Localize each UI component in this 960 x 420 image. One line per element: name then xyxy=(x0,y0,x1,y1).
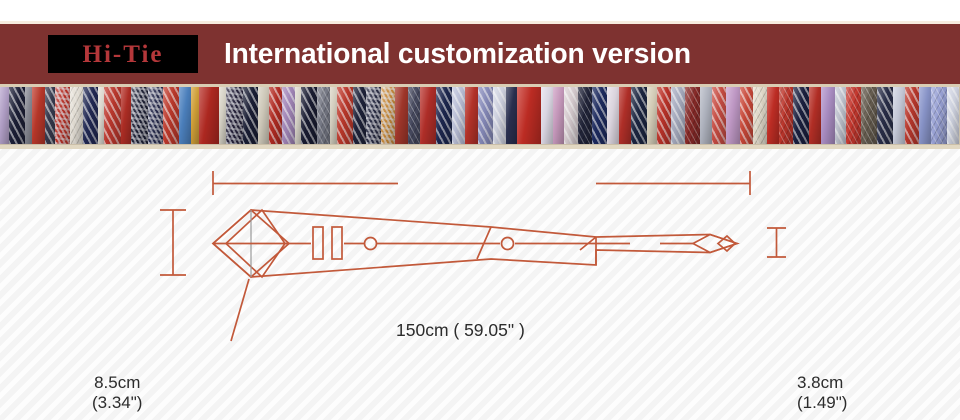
necktie-swatch xyxy=(301,86,317,144)
top-margin xyxy=(0,0,960,21)
necktie-swatch xyxy=(330,86,338,144)
necktie-swatch xyxy=(753,86,767,144)
swatch-shading xyxy=(671,86,685,144)
swatch-shading xyxy=(861,86,877,144)
swatch-shading xyxy=(793,86,808,144)
swatch-shading xyxy=(553,86,564,144)
necktie-swatch xyxy=(163,86,179,144)
swatch-shading xyxy=(436,86,452,144)
necktie-swatch xyxy=(219,86,226,144)
swatch-shading xyxy=(947,86,960,144)
swatch-shading xyxy=(578,86,592,144)
necktie-swatch xyxy=(685,86,700,144)
necktie-swatch xyxy=(408,86,421,144)
necktie-swatch xyxy=(493,86,507,144)
necktie-swatch xyxy=(104,86,121,144)
photo-strip-top-edge xyxy=(0,84,960,87)
necktie-collection-photo xyxy=(0,84,960,148)
necktie-swatch xyxy=(83,86,98,144)
necktie-swatch xyxy=(905,86,919,144)
swatch-shading xyxy=(619,86,632,144)
necktie-swatch xyxy=(381,86,395,144)
swatch-shading xyxy=(70,86,83,144)
necktie-swatch xyxy=(657,86,671,144)
swatch-shading xyxy=(243,86,258,144)
tie-specification-diagram: 150cm ( 59.05" ) 8.5cm (3.34") 3.8cm (1.… xyxy=(0,149,960,420)
narrow-end-label: 3.8cm (1.49") xyxy=(797,373,847,413)
swatch-shading xyxy=(564,86,578,144)
swatch-shading xyxy=(337,86,352,144)
swatch-shading xyxy=(753,86,767,144)
necktie-swatch xyxy=(877,86,892,144)
necktie-swatch xyxy=(45,86,55,144)
swatch-shading xyxy=(465,86,479,144)
necktie-swatch xyxy=(121,86,131,144)
swatch-shading xyxy=(179,86,191,144)
necktie-swatch xyxy=(740,86,753,144)
necktie-swatch xyxy=(179,86,191,144)
swatch-shading xyxy=(657,86,671,144)
swatch-shading xyxy=(420,86,435,144)
brand-logo-text: Hi-Tie xyxy=(83,42,164,67)
swatch-shading xyxy=(821,86,835,144)
swatch-shading xyxy=(931,86,946,144)
swatch-shading xyxy=(381,86,395,144)
swatch-shading xyxy=(163,86,179,144)
swatch-shading xyxy=(877,86,892,144)
swatch-shading xyxy=(452,86,465,144)
swatch-shading xyxy=(592,86,607,144)
swatch-shading xyxy=(740,86,753,144)
swatch-shading xyxy=(330,86,338,144)
swatch-shading xyxy=(631,86,646,144)
swatch-shading xyxy=(199,86,219,144)
swatch-shading xyxy=(685,86,700,144)
brand-logo-box: Hi-Tie xyxy=(48,35,198,73)
narrow-end-dimension-line xyxy=(767,228,786,257)
necktie-swatch xyxy=(199,86,219,144)
swatch-shading xyxy=(219,86,226,144)
necktie-swatch xyxy=(631,86,646,144)
swatch-shading xyxy=(541,86,554,144)
swatch-shading xyxy=(493,86,507,144)
swatch-shading xyxy=(607,86,619,144)
necktie-swatch xyxy=(931,86,946,144)
necktie-swatch xyxy=(9,86,25,144)
swatch-shading xyxy=(478,86,492,144)
necktie-swatch xyxy=(793,86,808,144)
necktie-swatch xyxy=(25,86,32,144)
swatch-shading xyxy=(647,86,657,144)
necktie-swatch xyxy=(420,86,435,144)
necktie-swatch-row xyxy=(0,86,960,144)
swatch-shading xyxy=(779,86,793,144)
necktie-swatch xyxy=(0,86,9,144)
necktie-swatch xyxy=(226,86,243,144)
swatch-shading xyxy=(893,86,906,144)
necktie-swatch xyxy=(647,86,657,144)
necktie-swatch xyxy=(337,86,352,144)
necktie-swatch xyxy=(353,86,367,144)
banner-title: International customization version xyxy=(224,38,691,71)
swatch-shading xyxy=(767,86,779,144)
swatch-shading xyxy=(148,86,163,144)
necktie-swatch xyxy=(861,86,877,144)
swatch-shading xyxy=(104,86,121,144)
necktie-swatch xyxy=(607,86,619,144)
length-dimension-line xyxy=(213,171,750,195)
swatch-shading xyxy=(55,86,70,144)
necktie-swatch xyxy=(846,86,860,144)
swatch-shading xyxy=(258,86,269,144)
necktie-swatch xyxy=(592,86,607,144)
necktie-swatch xyxy=(671,86,685,144)
necktie-swatch xyxy=(269,86,283,144)
swatch-shading xyxy=(191,86,199,144)
wide-end-label-inch: (3.34") xyxy=(92,393,142,413)
swatch-shading xyxy=(835,86,847,144)
wide-end-label: 8.5cm (3.34") xyxy=(92,373,142,413)
necktie-swatch xyxy=(564,86,578,144)
swatch-shading xyxy=(726,86,740,144)
length-label: 150cm ( 59.05" ) xyxy=(396,320,525,341)
necktie-swatch xyxy=(243,86,258,144)
necktie-swatch xyxy=(726,86,740,144)
necktie-swatch xyxy=(541,86,554,144)
necktie-swatch xyxy=(919,86,932,144)
necktie-swatch xyxy=(712,86,726,144)
swatch-shading xyxy=(121,86,131,144)
swatch-shading xyxy=(395,86,408,144)
necktie-swatch xyxy=(55,86,70,144)
header-banner: Hi-Tie International customization versi… xyxy=(0,24,960,84)
swatch-shading xyxy=(846,86,860,144)
necktie-swatch xyxy=(282,86,295,144)
swatch-shading xyxy=(269,86,283,144)
necktie-swatch xyxy=(619,86,632,144)
narrow-end-label-cm: 3.8cm xyxy=(797,373,847,393)
swatch-shading xyxy=(9,86,25,144)
swatch-shading xyxy=(408,86,421,144)
swatch-shading xyxy=(809,86,822,144)
necktie-swatch xyxy=(258,86,269,144)
swatch-shading xyxy=(517,86,541,144)
swatch-shading xyxy=(32,86,46,144)
swatch-shading xyxy=(282,86,295,144)
necktie-swatch xyxy=(700,86,713,144)
swatch-shading xyxy=(0,86,9,144)
necktie-swatch xyxy=(478,86,492,144)
necktie-swatch xyxy=(452,86,465,144)
swatch-shading xyxy=(366,86,380,144)
swatch-shading xyxy=(226,86,243,144)
necktie-swatch xyxy=(893,86,906,144)
swatch-shading xyxy=(301,86,317,144)
necktie-swatch xyxy=(821,86,835,144)
necktie-swatch xyxy=(553,86,564,144)
necktie-swatch xyxy=(148,86,163,144)
swatch-shading xyxy=(45,86,55,144)
swatch-shading xyxy=(700,86,713,144)
swatch-shading xyxy=(506,86,517,144)
wide-end-dimension-line xyxy=(160,210,186,275)
narrow-end-label-inch: (1.49") xyxy=(797,393,847,413)
necktie-swatch xyxy=(947,86,960,144)
swatch-shading xyxy=(353,86,367,144)
swatch-shading xyxy=(83,86,98,144)
necktie-swatch xyxy=(366,86,380,144)
swatch-shading xyxy=(905,86,919,144)
necktie-swatch xyxy=(506,86,517,144)
necktie-swatch xyxy=(436,86,452,144)
necktie-swatch xyxy=(395,86,408,144)
necktie-swatch xyxy=(70,86,83,144)
necktie-swatch xyxy=(32,86,46,144)
swatch-shading xyxy=(317,86,330,144)
necktie-swatch xyxy=(809,86,822,144)
necktie-swatch xyxy=(131,86,147,144)
necktie-swatch xyxy=(767,86,779,144)
angle-leader-line xyxy=(231,279,249,341)
necktie-swatch xyxy=(779,86,793,144)
necktie-swatch xyxy=(317,86,330,144)
swatch-shading xyxy=(25,86,32,144)
necktie-swatch xyxy=(465,86,479,144)
wide-end-label-cm: 8.5cm xyxy=(92,373,142,393)
necktie-swatch xyxy=(517,86,541,144)
necktie-swatch xyxy=(191,86,199,144)
necktie-swatch xyxy=(835,86,847,144)
product-detail-banner: Hi-Tie International customization versi… xyxy=(0,0,960,420)
swatch-shading xyxy=(131,86,147,144)
necktie-swatch xyxy=(578,86,592,144)
tie-body-outline xyxy=(213,210,737,277)
swatch-shading xyxy=(919,86,932,144)
swatch-shading xyxy=(712,86,726,144)
